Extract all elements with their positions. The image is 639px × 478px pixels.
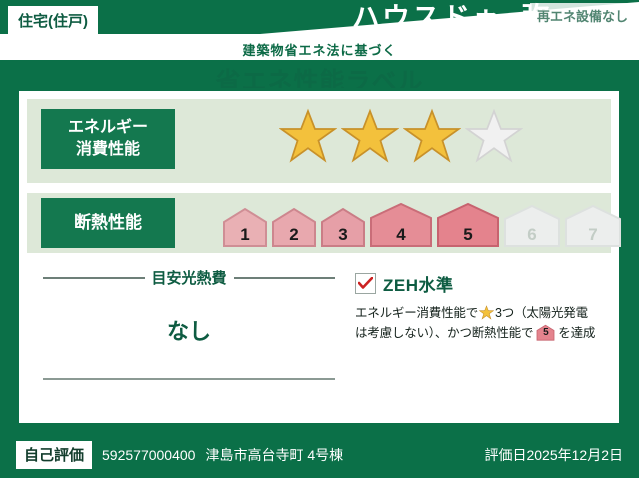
insulation-grade-scale: 1 2 3 4 5 6 7 (222, 201, 622, 248)
zeh-desc-part3: は考慮しない）、かつ断熱性能で (355, 326, 533, 340)
rule-right (234, 277, 336, 279)
grade-badge-5: 5 (436, 201, 500, 248)
utility-cost-title: 目安光熱費 (152, 267, 227, 288)
zeh-desc-part2: 3つ（太陽光発電 (495, 306, 588, 320)
utility-cost-box: 目安光熱費 なし (43, 267, 335, 380)
grade-number-6: 6 (503, 225, 561, 245)
footer-inner: 自己評価 592577000400 津島市高台寺町 4号棟 評価日2025年12… (0, 441, 639, 469)
footer-bar: 自己評価 592577000400 津島市高台寺町 4号棟 評価日2025年12… (0, 432, 639, 478)
rule-left (43, 277, 145, 279)
renewable-equipment-tag: 再エネ設備なし (530, 3, 635, 29)
evaluation-id: 592577000400 (102, 447, 195, 463)
zeh-header: ZEH水準 (355, 271, 610, 296)
utility-cost-bottom-rule (43, 378, 335, 380)
zeh-box: ZEH水準 エネルギー消費性能で3つ（太陽光発電は考慮しない）、かつ断熱性能で5… (355, 271, 610, 344)
grade-number-2: 2 (271, 225, 317, 245)
grade-badge-1: 1 (222, 206, 268, 248)
grade-number-3: 3 (320, 225, 366, 245)
self-evaluation-badge: 自己評価 (16, 441, 92, 469)
zeh-title: ZEH水準 (383, 271, 454, 296)
zeh-desc-part4: を達成 (558, 326, 595, 340)
property-address: 津島市高台寺町 4号棟 (205, 445, 343, 465)
grade-badge-6: 6 (503, 203, 561, 248)
grade-badge-2: 2 (271, 206, 317, 248)
utility-cost-header: 目安光熱費 (43, 267, 335, 288)
star-icon-3 (403, 107, 461, 165)
zeh-description: エネルギー消費性能で3つ（太陽光発電は考慮しない）、かつ断熱性能で5を達成 (355, 303, 610, 344)
title-subtitle: 建築物省エネ法に基づく (0, 40, 639, 59)
star-rating (279, 107, 523, 165)
grade-number-7: 7 (564, 225, 622, 245)
inline-grade-number: 5 (535, 325, 556, 341)
energy-label-line2: 消費性能 (76, 141, 140, 158)
insulation-performance-label: 断熱性能 (41, 198, 175, 248)
zeh-desc-part1: エネルギー消費性能で (355, 306, 478, 320)
inline-star-icon (479, 305, 494, 320)
star-icon-1 (279, 107, 337, 165)
insulation-performance-row: 断熱性能 1 2 3 4 5 (27, 193, 611, 253)
grade-badge-4: 4 (369, 201, 433, 248)
energy-performance-label: エネルギー 消費性能 (41, 109, 175, 169)
star-icon-4-empty (465, 107, 523, 165)
grade-number-4: 4 (369, 225, 433, 245)
checkmark-icon (355, 273, 376, 294)
energy-performance-row: エネルギー 消費性能 (27, 99, 611, 183)
lower-section: 目安光熱費 なし ZEH水準 エネルギー消費性能で3つ（太陽光発電は考慮しない）… (19, 259, 619, 409)
house-type-tag: 住宅(住戸) (8, 6, 98, 36)
utility-cost-value: なし (43, 314, 335, 346)
energy-label-line1: エネルギー (68, 119, 148, 136)
grade-number-5: 5 (436, 225, 500, 245)
grade-badge-7: 7 (564, 203, 622, 248)
energy-label-panel: エネルギー 消費性能 断熱性能 1 (16, 88, 622, 426)
evaluation-date: 評価日2025年12月2日 (484, 445, 623, 465)
inline-grade-badge: 5 (535, 324, 556, 341)
star-icon-2 (341, 107, 399, 165)
grade-badge-3: 3 (320, 206, 366, 248)
grade-number-1: 1 (222, 225, 268, 245)
